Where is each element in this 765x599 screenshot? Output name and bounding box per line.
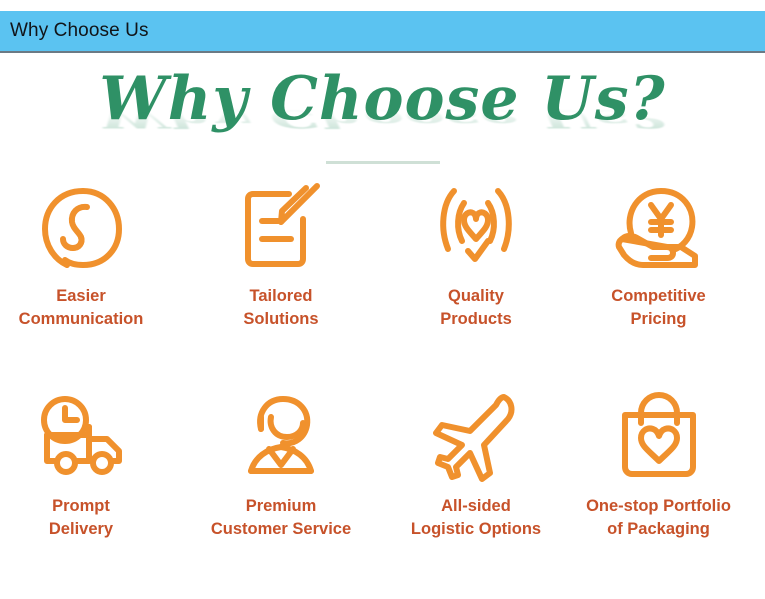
feature-label-line-1: Easier — [19, 285, 144, 308]
feature-label: Prompt Delivery — [49, 495, 113, 542]
hero-heading-text: Why Choose Us? — [99, 64, 665, 134]
feature-label-line-1: One-stop Portfolio — [586, 495, 731, 518]
feature-easier-communication[interactable]: Easier Communication — [0, 173, 162, 332]
feature-label: All-sided Logistic Options — [411, 495, 541, 542]
feature-label-line-2: Solutions — [243, 308, 318, 331]
airplane-icon — [426, 383, 526, 491]
feature-one-stop-portfolio-of-packaging[interactable]: One-stop Portfolio of Packaging — [552, 383, 765, 542]
document-pencil-icon — [231, 173, 331, 281]
feature-label-line-1: All-sided — [411, 495, 541, 518]
feature-row: Easier Communication Tailored So — [0, 173, 765, 383]
hero-section: Why Choose Us? Why Choose Us? — [0, 55, 765, 167]
feature-label: Competitive Pricing — [611, 285, 705, 332]
feature-row: Prompt Delivery — [0, 383, 765, 598]
feature-label: Quality Products — [440, 285, 512, 332]
feature-label: Premium Customer Service — [211, 495, 351, 542]
feature-label: Tailored Solutions — [243, 285, 318, 332]
hero-heading: Why Choose Us? — [0, 69, 765, 129]
feature-label-line-2: Customer Service — [211, 518, 351, 541]
feature-label-line-1: Competitive — [611, 285, 705, 308]
feature-label-line-2: Communication — [19, 308, 144, 331]
browser-tab-bar: Why Choose Us — [0, 11, 765, 53]
feature-label-line-2: of Packaging — [586, 518, 731, 541]
feature-label-line-2: Products — [440, 308, 512, 331]
feature-competitive-pricing[interactable]: Competitive Pricing — [552, 173, 765, 332]
ear-in-circle-icon — [31, 173, 131, 281]
headset-agent-icon — [231, 383, 331, 491]
feature-label-line-2: Delivery — [49, 518, 113, 541]
feature-quality-products[interactable]: Quality Products — [400, 173, 552, 332]
feature-label: Easier Communication — [19, 285, 144, 332]
feature-label-line-1: Tailored — [243, 285, 318, 308]
feature-tailored-solutions[interactable]: Tailored Solutions — [162, 173, 400, 332]
feature-grid: Easier Communication Tailored So — [0, 173, 765, 598]
feature-label: One-stop Portfolio of Packaging — [586, 495, 731, 542]
page-tab-title[interactable]: Why Choose Us — [10, 20, 149, 42]
heart-signal-check-icon — [426, 173, 526, 281]
feature-label-line-1: Prompt — [49, 495, 113, 518]
feature-label-line-2: Pricing — [611, 308, 705, 331]
shopping-bag-heart-icon — [609, 383, 709, 491]
feature-label-line-2: Logistic Options — [411, 518, 541, 541]
feature-label-line-1: Quality — [440, 285, 512, 308]
feature-label-line-1: Premium — [211, 495, 351, 518]
feature-premium-customer-service[interactable]: Premium Customer Service — [162, 383, 400, 542]
hero-divider — [326, 161, 440, 164]
page-content: Why Choose Us? Why Choose Us? Easier — [0, 55, 765, 599]
delivery-truck-clock-icon — [31, 383, 131, 491]
hand-holding-yen-coin-icon — [609, 173, 709, 281]
feature-all-sided-logistic-options[interactable]: All-sided Logistic Options — [400, 383, 552, 542]
feature-prompt-delivery[interactable]: Prompt Delivery — [0, 383, 162, 542]
